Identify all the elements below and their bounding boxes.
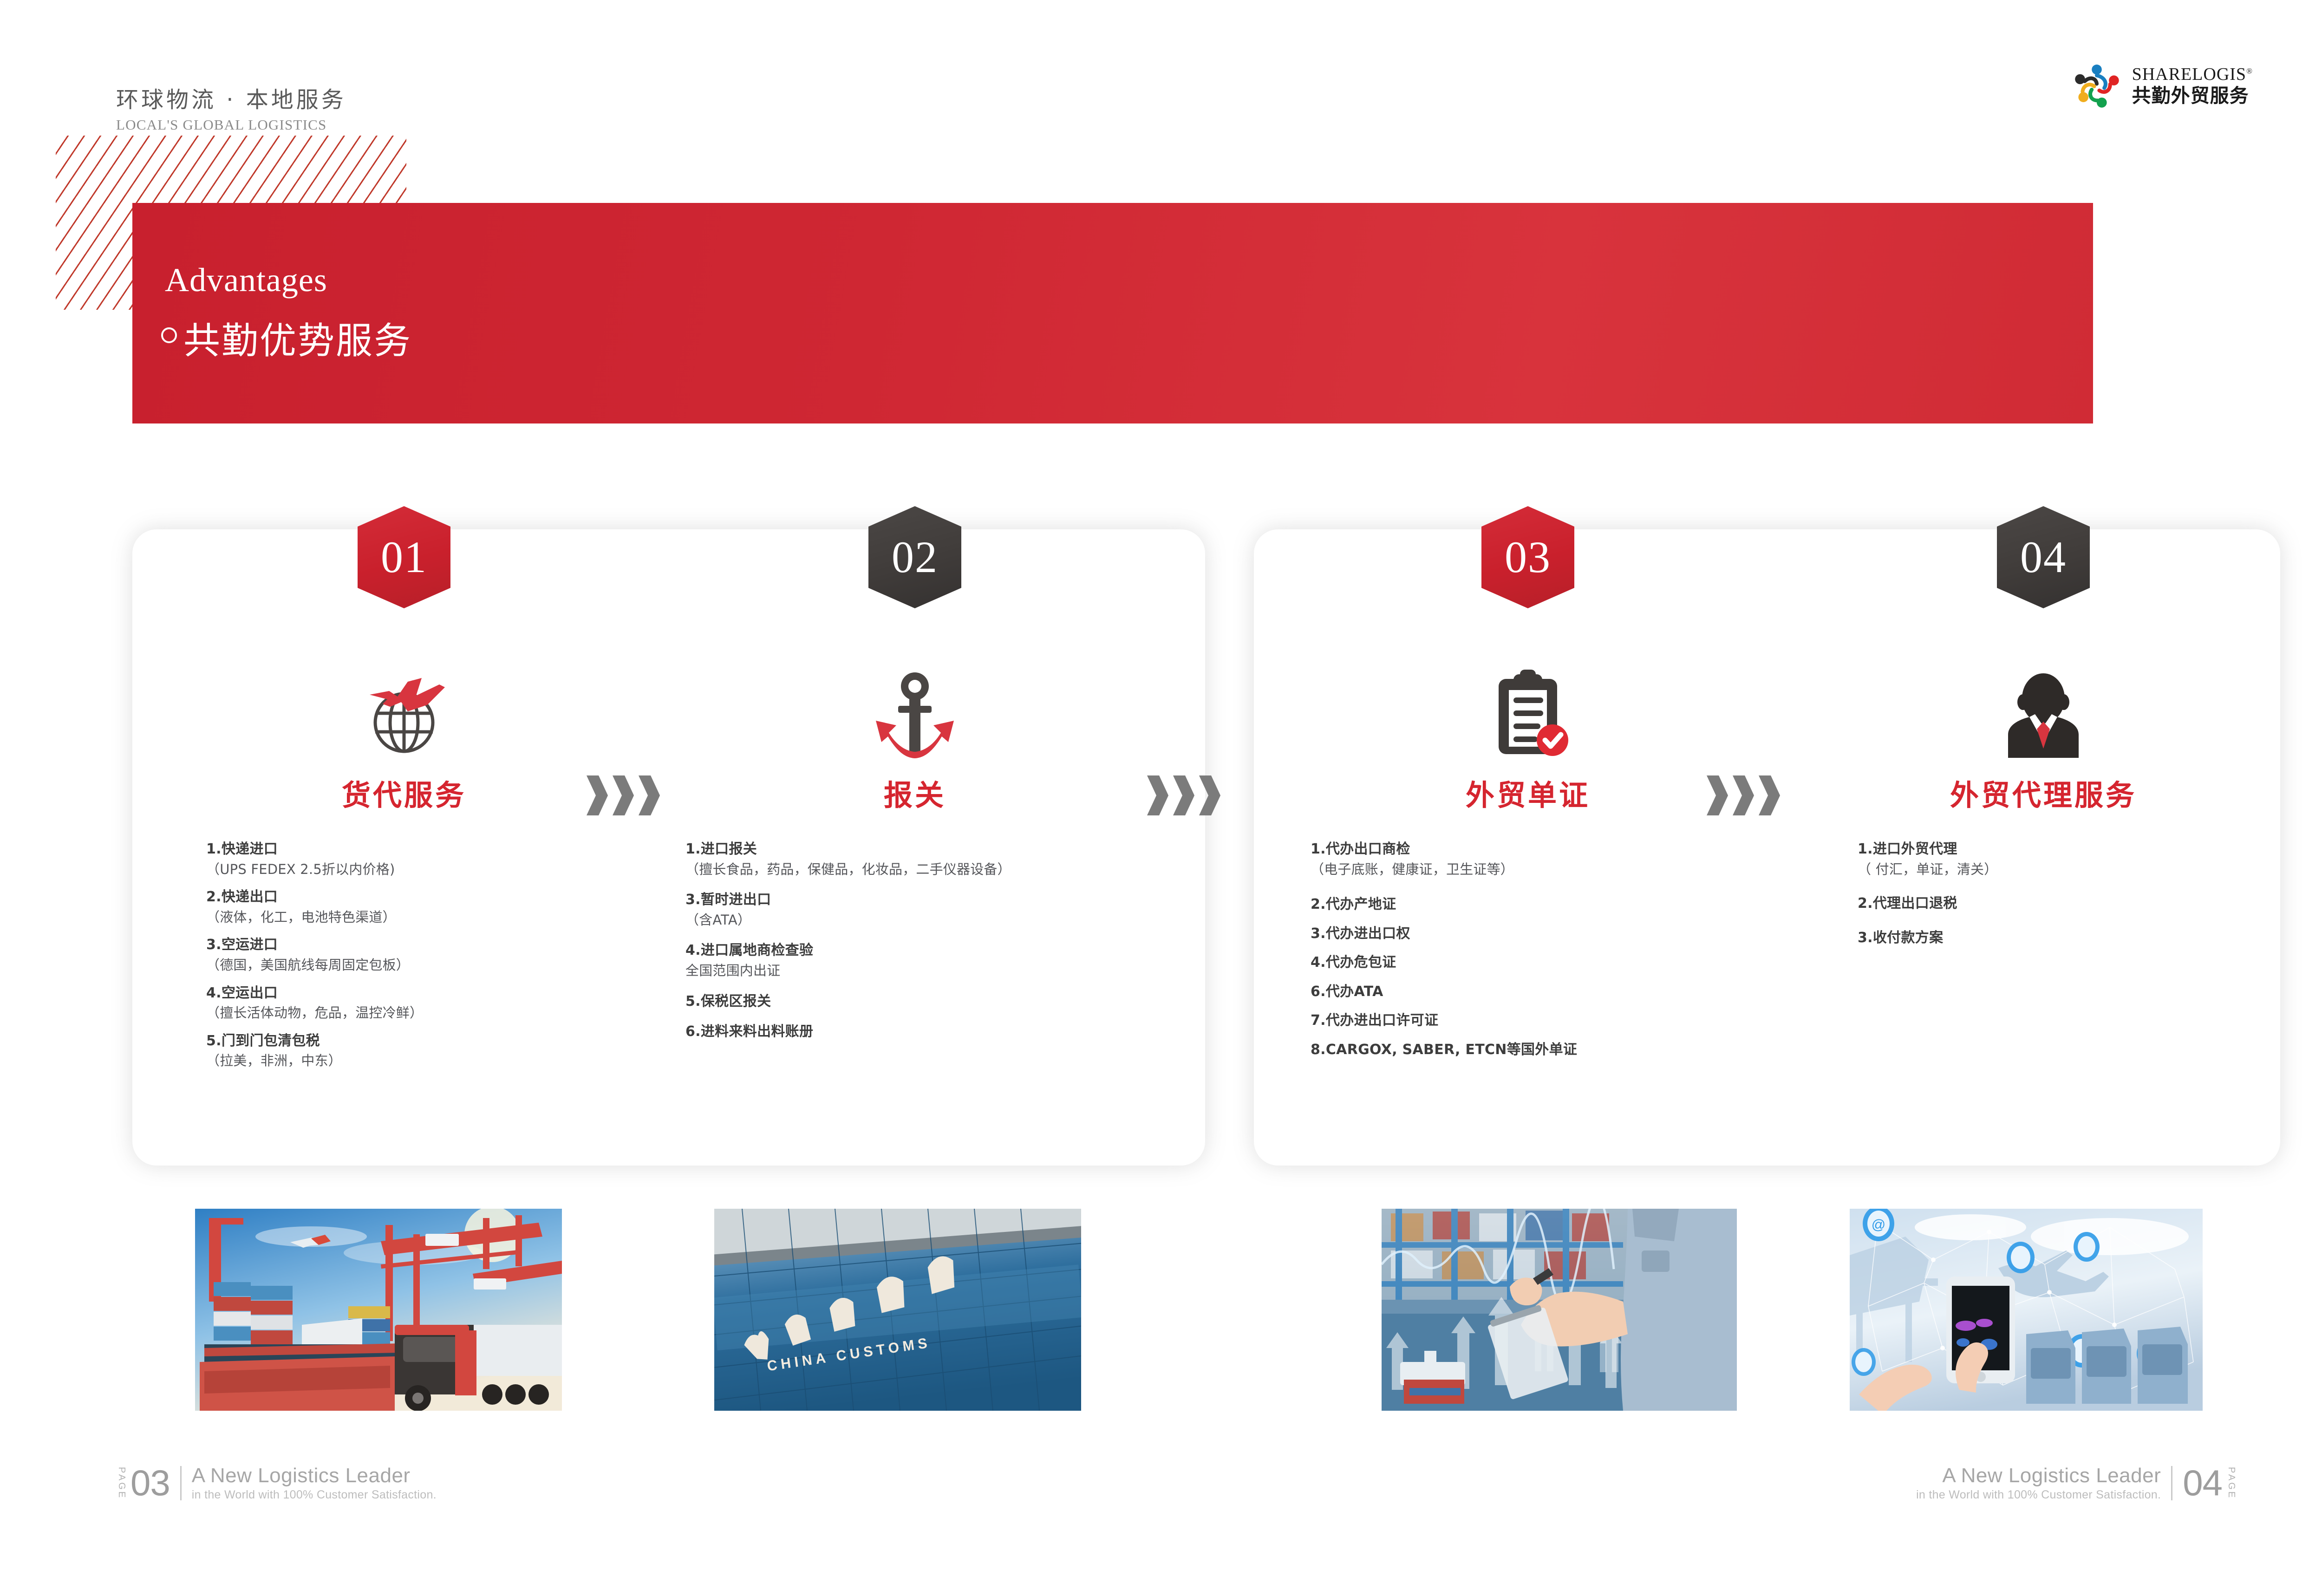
item-sub: （电子底账，健康证，卫生证等） (1311, 861, 1765, 879)
item-head: 1.代办出口商检 (1311, 840, 1765, 858)
footer-tagline-left-line2: in the World with 100% Customer Satisfac… (192, 1489, 437, 1501)
list-item: 6.进料来料出料账册 (685, 1023, 1152, 1041)
footer-divider-left (180, 1466, 182, 1500)
footer-divider-right (2171, 1466, 2172, 1500)
item-sub: （含ATA） (685, 912, 1152, 929)
item-head: 5.门到门包清包税 (206, 1032, 641, 1050)
list-item: 1.代办出口商检 （电子底账，健康证，卫生证等） (1311, 840, 1765, 878)
list-item: 5.保税区报关 (685, 993, 1152, 1010)
chevron-connector-1-2 (587, 775, 679, 827)
step-badge-01-number: 01 (381, 535, 427, 580)
chevron-right-icon (639, 775, 660, 815)
list-item: 4.进口属地商检查验 全国范围内出证 (685, 942, 1152, 979)
step-badge-03-number: 03 (1505, 535, 1551, 580)
item-head: 3.收付款方案 (1858, 929, 2280, 947)
brand-name-en: LOCAL'S GLOBAL LOGISTICS (116, 117, 346, 133)
service-column-4: 04 外贸代理服务 1.进口外贸代理 （ 付汇，单证，清关） 2.代理出口 (1797, 506, 2289, 963)
service-column-2: 02 报关 1.进口报关 （擅长食品，药品，保健品，化妆品，二手仪器设备） 3.… (669, 506, 1161, 1054)
photo-inspector-clipboard-port (1382, 1209, 1737, 1411)
chevron-right-icon (587, 775, 608, 815)
item-head: 3.代办进出口权 (1311, 925, 1765, 943)
sharelogis-people-circle-icon (2072, 60, 2122, 111)
chevron-right-icon (1147, 775, 1168, 815)
banner-title-cn-text: 共勤优势服务 (183, 311, 412, 364)
list-item: 1.进口报关 （擅长食品，药品，保健品，化妆品，二手仪器设备） (685, 840, 1152, 878)
banner-title-cn: 共勤优势服务 (161, 311, 412, 364)
service-title-2: 报关 (669, 772, 1161, 814)
list-item: 8.CARGOX, SABER, ETCN等国外单证 (1311, 1041, 1765, 1059)
section-banner: Advantages 共勤优势服务 (132, 203, 2093, 423)
step-badge-02-number: 02 (892, 535, 938, 580)
list-item: 1.快递进口 （UPS FEDEX 2.5折以内价格) (206, 840, 641, 878)
footer-left: PAGE 03 A New Logistics Leader in the Wo… (116, 1465, 437, 1501)
service-title-1: 货代服务 (158, 772, 650, 814)
item-head: 1.进口报关 (685, 840, 1152, 858)
service-item-list-2: 1.进口报关 （擅长食品，药品，保健品，化妆品，二手仪器设备） 3.暂时进出口 … (669, 840, 1161, 1041)
item-head: 6.进料来料出料账册 (685, 1023, 1152, 1041)
item-head: 1.进口外贸代理 (1858, 840, 2280, 858)
item-sub: （擅长活体动物，危品，温控冷鲜） (206, 1004, 641, 1022)
item-head: 8.CARGOX, SABER, ETCN等国外单证 (1311, 1041, 1765, 1059)
item-head: 3.空运进口 (206, 936, 641, 954)
step-badge-03: 03 (1481, 506, 1574, 608)
list-item: 3.空运进口 （德国，美国航线每周固定包板） (206, 936, 641, 974)
registered-mark: ® (2246, 66, 2253, 75)
item-sub: （德国，美国航线每周固定包板） (206, 957, 641, 974)
brand-block: 环球物流 · 本地服务 LOCAL'S GLOBAL LOGISTICS (116, 81, 346, 133)
item-sub: 全国范围内出证 (685, 962, 1152, 980)
list-item: 4.代办危包证 (1311, 954, 1765, 971)
item-sub: （UPS FEDEX 2.5折以内价格) (206, 861, 641, 879)
item-sub: （ 付汇，单证，清关） (1858, 861, 2280, 879)
service-item-list-1: 1.快递进口 （UPS FEDEX 2.5折以内价格) 2.快递出口 （液体，化… (158, 840, 650, 1070)
logo-name-en-text: SHARELOGIS (2132, 65, 2246, 84)
list-item: 1.进口外贸代理 （ 付汇，单证，清关） (1858, 840, 2280, 878)
company-logo: SHARELOGIS® 共勤外贸服务 (2072, 60, 2253, 111)
item-head: 4.空运出口 (206, 984, 641, 1002)
chevron-right-icon (613, 775, 634, 815)
page-number-left: 03 (130, 1466, 170, 1500)
logo-name-en: SHARELOGIS® (2132, 65, 2253, 83)
photo-port-container-terminal (195, 1209, 562, 1411)
service-title-3: 外贸单证 (1282, 772, 1774, 814)
chevron-right-icon (1707, 775, 1728, 815)
chevron-connector-3-4 (1707, 775, 1800, 827)
item-head: 1.快递进口 (206, 840, 641, 858)
list-item: 2.代理出口退税 (1858, 895, 2280, 912)
footer-tagline-right-line1: A New Logistics Leader (1916, 1465, 2161, 1486)
item-head: 4.代办危包证 (1311, 954, 1765, 971)
item-head: 4.进口属地商检查验 (685, 942, 1152, 959)
page-number-right: 04 (2183, 1466, 2222, 1500)
chevron-right-icon (1173, 775, 1194, 815)
list-item: 6.代办ATA (1311, 983, 1765, 1001)
chevron-right-icon (1733, 775, 1754, 815)
list-item: 3.收付款方案 (1858, 929, 2280, 947)
service-column-1: 01 货代服务 1.快递进口 （UPS FEDEX 2.5折以内价格) (158, 506, 650, 1080)
logo-name-cn: 共勤外贸服务 (2132, 86, 2253, 105)
list-item: 7.代办进出口许可证 (1311, 1012, 1765, 1029)
list-item: 4.空运出口 （擅长活体动物，危品，温控冷鲜） (206, 984, 641, 1022)
list-item: 3.暂时进出口 （含ATA） (685, 891, 1152, 929)
list-item: 2.代办产地证 (1311, 896, 1765, 913)
step-badge-01: 01 (358, 506, 450, 608)
item-head: 2.代办产地证 (1311, 896, 1765, 913)
chevron-right-icon (1199, 775, 1220, 815)
photo-digital-logistics-tablet: @ (1850, 1209, 2203, 1411)
businessman-icon (1797, 648, 2289, 760)
chevron-right-icon (1759, 775, 1780, 815)
slide-page: 环球物流 · 本地服务 LOCAL'S GLOBAL LOGISTICS (0, 0, 2322, 1596)
brand-name-cn: 环球物流 · 本地服务 (116, 81, 346, 114)
item-head: 7.代办进出口许可证 (1311, 1012, 1765, 1029)
chevron-connector-2-3 (1147, 775, 1240, 827)
service-item-list-3: 1.代办出口商检 （电子底账，健康证，卫生证等） 2.代办产地证 3.代办进出口… (1282, 840, 1774, 1058)
svg-text:@: @ (1872, 1217, 1885, 1232)
clipboard-check-icon (1282, 648, 1774, 760)
item-sub: （液体，化工，电池特色渠道） (206, 909, 641, 926)
footer-tagline-right-line2: in the World with 100% Customer Satisfac… (1916, 1489, 2161, 1501)
item-head: 2.快递出口 (206, 888, 641, 906)
footer-right: A New Logistics Leader in the World with… (1916, 1465, 2237, 1501)
ring-bullet-icon (161, 327, 177, 343)
step-badge-04: 04 (1997, 506, 2090, 608)
service-column-3: 03 外贸单证 (1282, 506, 1774, 1070)
banner-title-en: Advantages (165, 261, 327, 300)
list-item: 3.代办进出口权 (1311, 925, 1765, 943)
item-sub: （擅长食品，药品，保健品，化妆品，二手仪器设备） (685, 861, 1152, 879)
page-label-left: PAGE (116, 1467, 127, 1499)
item-head: 6.代办ATA (1311, 983, 1765, 1001)
service-item-list-4: 1.进口外贸代理 （ 付汇，单证，清关） 2.代理出口退税 3.收付款方案 (1797, 840, 2289, 946)
list-item: 5.门到门包清包税 （拉美，非洲，中东） (206, 1032, 641, 1070)
anchor-icon (669, 648, 1161, 760)
item-head: 3.暂时进出口 (685, 891, 1152, 909)
globe-airplane-icon (158, 648, 650, 760)
item-sub: （拉美，非洲，中东） (206, 1052, 641, 1070)
list-item: 2.快递出口 （液体，化工，电池特色渠道） (206, 888, 641, 926)
page-label-right: PAGE (2226, 1467, 2237, 1499)
footer-tagline-left-line1: A New Logistics Leader (192, 1465, 437, 1486)
item-head: 2.代理出口退税 (1858, 895, 2280, 912)
step-badge-02: 02 (868, 506, 961, 608)
item-head: 5.保税区报关 (685, 993, 1152, 1010)
service-title-4: 外贸代理服务 (1797, 772, 2289, 814)
step-badge-04-number: 04 (2020, 535, 2067, 580)
photo-china-customs-building: CHINA CUSTOMS (714, 1209, 1081, 1411)
